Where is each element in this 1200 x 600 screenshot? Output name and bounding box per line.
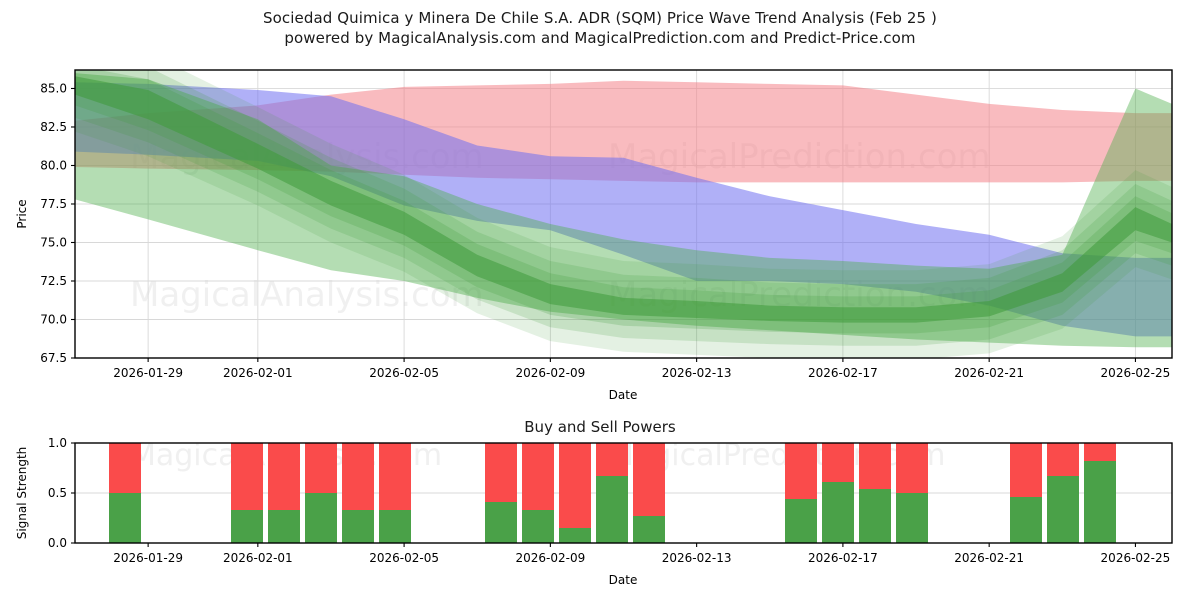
buy-power-bar[interactable] — [859, 489, 891, 543]
price-y-tick-label: 80.0 — [40, 158, 67, 172]
chart-svg: MagicalAnalysis.com MagicalPrediction.co… — [0, 0, 1200, 600]
powers-bar-stack[interactable] — [522, 443, 554, 543]
powers-bar-stack[interactable] — [485, 443, 517, 543]
powers-x-tick-label: 2026-02-13 — [662, 551, 732, 565]
powers-bar-stack[interactable] — [305, 443, 337, 543]
sell-power-bar[interactable] — [596, 443, 628, 476]
price-x-tick-label: 2026-02-17 — [808, 366, 878, 380]
powers-bar-stack[interactable] — [109, 443, 141, 543]
powers-x-tick-label: 2026-02-21 — [954, 551, 1024, 565]
powers-x-tick-label: 2026-02-25 — [1101, 551, 1171, 565]
powers-subplot: MagicalAnalysis.com MagicalPrediction.co… — [15, 436, 1172, 587]
buy-power-bar[interactable] — [109, 493, 141, 543]
sell-power-bar[interactable] — [785, 443, 817, 499]
powers-y-tick-label: 0.5 — [48, 486, 67, 500]
figure-canvas: Sociedad Quimica y Minera De Chile S.A. … — [0, 0, 1200, 600]
powers-bar-stack[interactable] — [1010, 443, 1042, 543]
buy-power-bar[interactable] — [896, 493, 928, 543]
buy-power-bar[interactable] — [231, 510, 263, 543]
price-y-tick-label: 70.0 — [40, 312, 67, 326]
price-x-tick-label: 2026-02-01 — [223, 366, 293, 380]
buy-power-bar[interactable] — [485, 502, 517, 543]
powers-bar-stack[interactable] — [896, 443, 928, 543]
powers-bar-stack[interactable] — [1047, 443, 1079, 543]
powers-x-tick-label: 2026-02-09 — [515, 551, 585, 565]
price-y-tick-label: 67.5 — [40, 351, 67, 365]
price-x-tick-label: 2026-02-05 — [369, 366, 439, 380]
sell-power-bar[interactable] — [822, 443, 854, 482]
sell-power-bar[interactable] — [231, 443, 263, 510]
buy-power-bar[interactable] — [1047, 476, 1079, 543]
sell-power-bar[interactable] — [633, 443, 665, 516]
sell-power-bar[interactable] — [859, 443, 891, 489]
chart-title: Sociedad Quimica y Minera De Chile S.A. … — [0, 8, 1200, 48]
powers-bar-stack[interactable] — [859, 443, 891, 543]
buy-power-bar[interactable] — [822, 482, 854, 543]
powers-x-axis-label: Date — [609, 573, 638, 587]
sell-power-bar[interactable] — [559, 443, 591, 528]
powers-y-tick-label: 0.0 — [48, 536, 67, 550]
powers-bar-stack[interactable] — [379, 443, 411, 543]
price-x-tick-label: 2026-02-25 — [1101, 366, 1171, 380]
price-x-tick-label: 2026-02-21 — [954, 366, 1024, 380]
buy-power-bar[interactable] — [785, 499, 817, 543]
sell-power-bar[interactable] — [109, 443, 141, 493]
buy-power-bar[interactable] — [305, 493, 337, 543]
buy-power-bar[interactable] — [559, 528, 591, 543]
price-y-tick-label: 85.0 — [40, 81, 67, 95]
powers-bar-stack[interactable] — [633, 443, 665, 543]
buy-power-bar[interactable] — [1084, 461, 1116, 543]
sell-power-bar[interactable] — [485, 443, 517, 502]
buy-power-bar[interactable] — [1010, 497, 1042, 543]
buy-power-bar[interactable] — [379, 510, 411, 543]
buy-power-bar[interactable] — [596, 476, 628, 543]
price-y-tick-label: 82.5 — [40, 120, 67, 134]
price-y-tick-label: 72.5 — [40, 274, 67, 288]
sell-power-bar[interactable] — [1084, 443, 1116, 461]
sell-power-bar[interactable] — [1010, 443, 1042, 497]
price-y-tick-label: 75.0 — [40, 235, 67, 249]
powers-bar-stack[interactable] — [268, 443, 300, 543]
buy-power-bar[interactable] — [342, 510, 374, 543]
powers-bar-stack[interactable] — [559, 443, 591, 543]
sell-power-bar[interactable] — [342, 443, 374, 510]
powers-bar-stack[interactable] — [785, 443, 817, 543]
powers-bar-stack[interactable] — [342, 443, 374, 543]
sell-power-bar[interactable] — [896, 443, 928, 493]
powers-bar-stack[interactable] — [231, 443, 263, 543]
powers-bar-stack[interactable] — [822, 443, 854, 543]
sell-power-bar[interactable] — [379, 443, 411, 510]
price-x-tick-label: 2026-01-29 — [113, 366, 183, 380]
sell-power-bar[interactable] — [268, 443, 300, 510]
sell-power-bar[interactable] — [305, 443, 337, 493]
powers-y-tick-label: 1.0 — [48, 436, 67, 450]
sell-power-bar[interactable] — [1047, 443, 1079, 476]
price-y-tick-label: 77.5 — [40, 197, 67, 211]
chart-title-line-2: powered by MagicalAnalysis.com and Magic… — [0, 28, 1200, 48]
powers-x-tick-label: 2026-01-29 — [113, 551, 183, 565]
price-x-tick-label: 2026-02-09 — [515, 366, 585, 380]
powers-subplot-title: Buy and Sell Powers — [0, 418, 1200, 436]
powers-x-tick-label: 2026-02-05 — [369, 551, 439, 565]
buy-power-bar[interactable] — [522, 510, 554, 543]
buy-power-bar[interactable] — [268, 510, 300, 543]
powers-bar-stack[interactable] — [1084, 443, 1116, 543]
powers-x-tick-label: 2026-02-17 — [808, 551, 878, 565]
price-y-axis-label: Price — [15, 199, 29, 228]
chart-title-line-1: Sociedad Quimica y Minera De Chile S.A. … — [0, 8, 1200, 28]
price-subplot: MagicalAnalysis.com MagicalPrediction.co… — [15, 39, 1172, 402]
powers-bar-stack[interactable] — [596, 443, 628, 543]
buy-power-bar[interactable] — [633, 516, 665, 543]
price-x-axis-label: Date — [609, 388, 638, 402]
powers-x-tick-label: 2026-02-01 — [223, 551, 293, 565]
powers-y-axis-label: Signal Strength — [15, 447, 29, 540]
price-x-tick-label: 2026-02-13 — [662, 366, 732, 380]
sell-power-bar[interactable] — [522, 443, 554, 510]
